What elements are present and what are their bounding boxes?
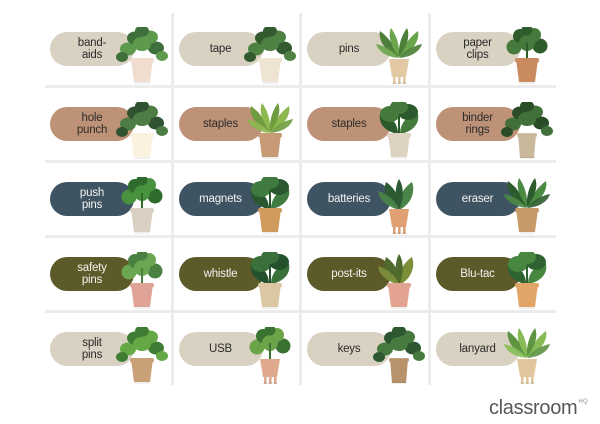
label-pill: post-its [307, 257, 391, 291]
label-text: post-its [327, 268, 370, 281]
label-pill: split pins [50, 332, 134, 366]
brand-wordmark: classroom [489, 398, 577, 418]
label-text: Blu-tac [456, 268, 498, 281]
label-card[interactable]: tape [174, 13, 300, 85]
label-card[interactable]: safety pins [45, 238, 171, 310]
label-sheet-page: band- aids tape [0, 0, 600, 424]
label-text: USB [205, 343, 236, 356]
label-grid: band- aids tape [45, 13, 556, 385]
label-card[interactable]: binder rings [431, 88, 557, 160]
label-pill: eraser [436, 182, 520, 216]
label-pill: whistle [179, 257, 263, 291]
label-pill: magnets [179, 182, 263, 216]
label-text: whistle [200, 268, 242, 281]
label-text: hole punch [73, 112, 111, 137]
label-card[interactable]: pins [302, 13, 428, 85]
label-text: batteries [324, 193, 374, 206]
label-card[interactable]: batteries [302, 163, 428, 235]
label-text: lanyard [455, 343, 499, 356]
label-card[interactable]: staples [302, 88, 428, 160]
label-card[interactable]: whistle [174, 238, 300, 310]
label-text: eraser [458, 193, 497, 206]
label-pill: push pins [50, 182, 134, 216]
label-card[interactable]: hole punch [45, 88, 171, 160]
label-pill: staples [179, 107, 263, 141]
label-card[interactable]: keys [302, 313, 428, 385]
label-text: binder rings [458, 112, 497, 137]
label-card[interactable]: split pins [45, 313, 171, 385]
label-pill: lanyard [436, 332, 520, 366]
label-pill: band- aids [50, 32, 134, 66]
label-card[interactable]: paper clips [431, 13, 557, 85]
label-card[interactable]: magnets [174, 163, 300, 235]
label-text: staples [199, 118, 242, 131]
label-pill: tape [179, 32, 263, 66]
label-text: split pins [78, 337, 106, 362]
label-text: push pins [76, 187, 108, 212]
brand-superscript: HQ [578, 399, 588, 405]
label-pill: hole punch [50, 107, 134, 141]
label-card[interactable]: band- aids [45, 13, 171, 85]
label-pill: batteries [307, 182, 391, 216]
label-pill: keys [307, 332, 391, 366]
label-pill: binder rings [436, 107, 520, 141]
label-pill: Blu-tac [436, 257, 520, 291]
label-pill: paper clips [436, 32, 520, 66]
brand-logo: classroom HQ [489, 398, 588, 418]
label-pill: safety pins [50, 257, 134, 291]
label-pill: staples [307, 107, 391, 141]
label-text: pins [335, 43, 363, 56]
label-text: tape [206, 43, 236, 56]
label-text: staples [327, 118, 370, 131]
label-text: paper clips [459, 37, 495, 62]
label-text: band- aids [74, 37, 110, 62]
label-card[interactable]: eraser [431, 163, 557, 235]
label-card[interactable]: USB [174, 313, 300, 385]
label-pill: USB [179, 332, 263, 366]
label-text: safety pins [73, 262, 110, 287]
label-text: magnets [195, 193, 246, 206]
label-card[interactable]: lanyard [431, 313, 557, 385]
label-text: keys [334, 343, 365, 356]
label-pill: pins [307, 32, 391, 66]
label-card[interactable]: post-its [302, 238, 428, 310]
label-card[interactable]: staples [174, 88, 300, 160]
label-card[interactable]: push pins [45, 163, 171, 235]
label-card[interactable]: Blu-tac [431, 238, 557, 310]
